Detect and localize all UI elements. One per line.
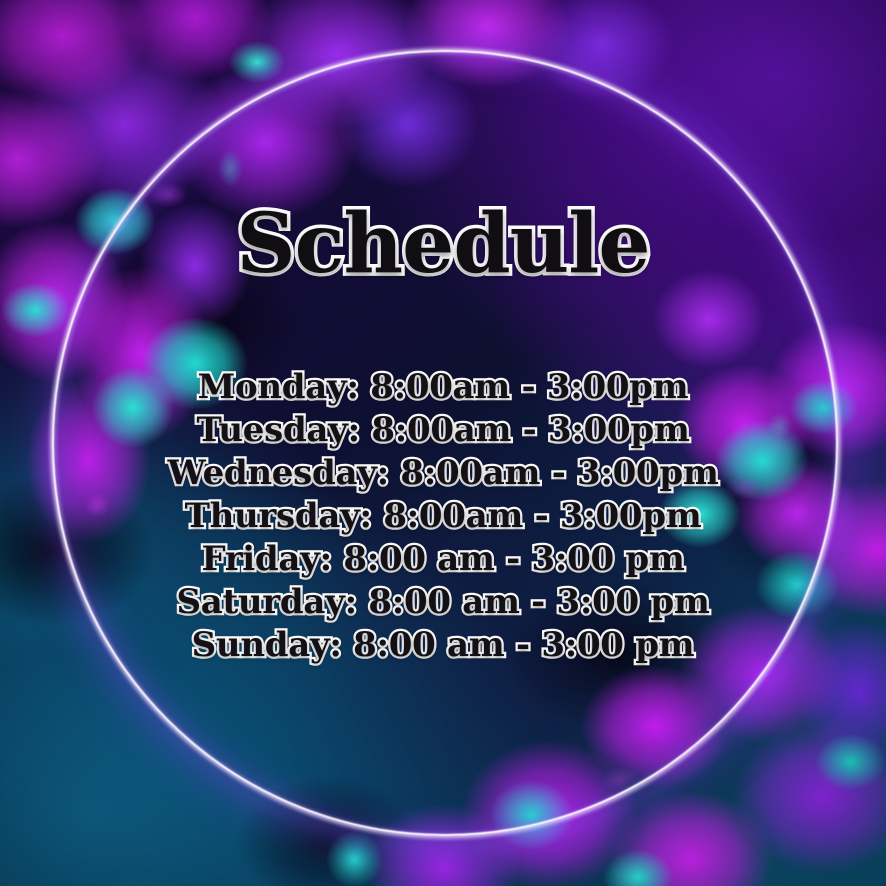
schedule-row-wednesday: Wednesday: 8:00am - 3:00pm bbox=[167, 452, 718, 495]
schedule-row-monday: Monday: 8:00am - 3:00pm bbox=[198, 366, 689, 409]
page-title: Schedule bbox=[0, 203, 886, 285]
schedule-hours-list: Monday: 8:00am - 3:00pm Tuesday: 8:00am … bbox=[0, 366, 886, 667]
schedule-row-friday: Friday: 8:00 am - 3:00 pm bbox=[201, 538, 684, 581]
schedule-row-sunday: Sunday: 8:00 am - 3:00 pm bbox=[192, 624, 695, 667]
schedule-row-thursday: Thursday: 8:00am - 3:00pm bbox=[185, 495, 702, 538]
schedule-row-tuesday: Tuesday: 8:00am - 3:00pm bbox=[196, 409, 689, 452]
poster-content: Schedule Monday: 8:00am - 3:00pm Tuesday… bbox=[0, 0, 886, 886]
schedule-row-saturday: Saturday: 8:00 am - 3:00 pm bbox=[176, 581, 709, 624]
schedule-poster: Schedule Monday: 8:00am - 3:00pm Tuesday… bbox=[0, 0, 886, 886]
